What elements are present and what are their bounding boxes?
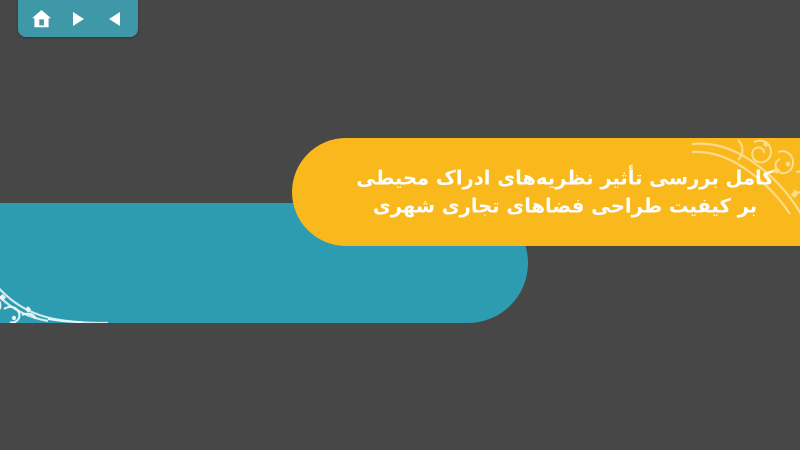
slide-canvas: کامل بررسی تأثیر نظریه‌های ادراک محیطی ب… [0,0,800,450]
triangle-right-icon [69,10,87,28]
home-icon [31,9,52,29]
home-button[interactable] [28,7,54,31]
arabesque-ornament-teal [0,203,110,323]
orange-title-banner: کامل بررسی تأثیر نظریه‌های ادراک محیطی ب… [292,138,800,246]
title-line-1: کامل بررسی تأثیر نظریه‌های ادراک محیطی [326,164,800,192]
next-slide-button[interactable] [65,7,91,31]
title-line-2: بر کیفیت طراحی فضاهای تجاری شهری [326,192,800,220]
previous-slide-button[interactable] [102,7,128,31]
navigation-toolbar [18,0,138,37]
slide-title: کامل بررسی تأثیر نظریه‌های ادراک محیطی ب… [326,164,800,219]
triangle-left-icon [106,10,124,28]
